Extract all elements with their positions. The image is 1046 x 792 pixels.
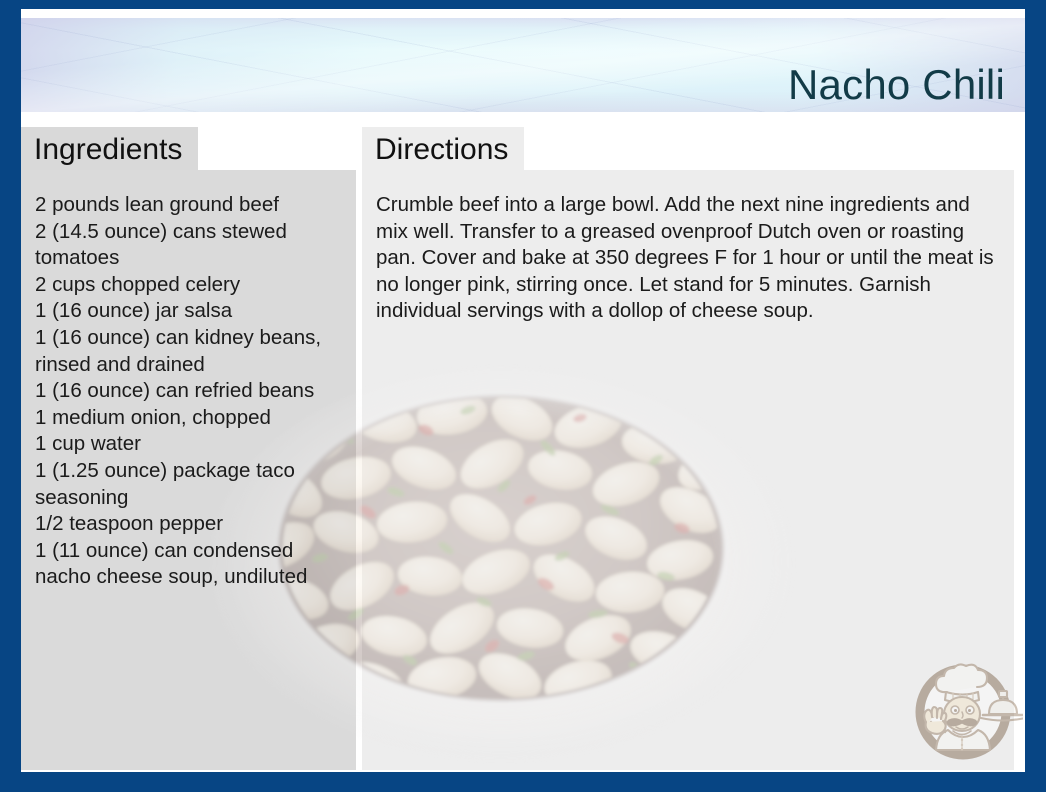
section-heading-ingredients: Ingredients xyxy=(21,127,198,173)
ingredient-item: 1 (16 ounce) can kidney beans, rinsed an… xyxy=(35,325,342,378)
ingredient-item: 1 (1.25 ounce) package taco seasoning xyxy=(35,458,342,511)
recipe-card: Nacho Chili Ingredients 2 pounds lean gr… xyxy=(0,0,1046,792)
header-banner: Nacho Chili xyxy=(21,18,1025,112)
ingredient-item: 2 (14.5 ounce) cans stewed tomatoes xyxy=(35,219,342,272)
ingredients-list: 2 pounds lean ground beef 2 (14.5 ounce)… xyxy=(35,192,342,591)
recipe-title: Nacho Chili xyxy=(788,64,1005,106)
ingredient-item: 1 cup water xyxy=(35,431,342,458)
section-heading-directions: Directions xyxy=(362,127,524,173)
ingredients-panel: 2 pounds lean ground beef 2 (14.5 ounce)… xyxy=(21,170,356,770)
ingredient-item: 1/2 teaspoon pepper xyxy=(35,511,342,538)
directions-text: Crumble beef into a large bowl. Add the … xyxy=(376,192,1000,325)
ingredient-item: 1 medium onion, chopped xyxy=(35,405,342,432)
ingredient-item: 1 (11 ounce) can condensed nacho cheese … xyxy=(35,538,342,591)
ingredients-panel-inner: 2 pounds lean ground beef 2 (14.5 ounce)… xyxy=(21,170,356,591)
ingredient-item: 1 (16 ounce) can refried beans xyxy=(35,378,342,405)
chef-mascot-logo xyxy=(903,648,1023,770)
ingredient-item: 2 cups chopped celery xyxy=(35,272,342,299)
ingredient-item: 1 (16 ounce) jar salsa xyxy=(35,298,342,325)
ingredient-item: 2 pounds lean ground beef xyxy=(35,192,342,219)
directions-panel-inner: Crumble beef into a large bowl. Add the … xyxy=(362,170,1014,325)
